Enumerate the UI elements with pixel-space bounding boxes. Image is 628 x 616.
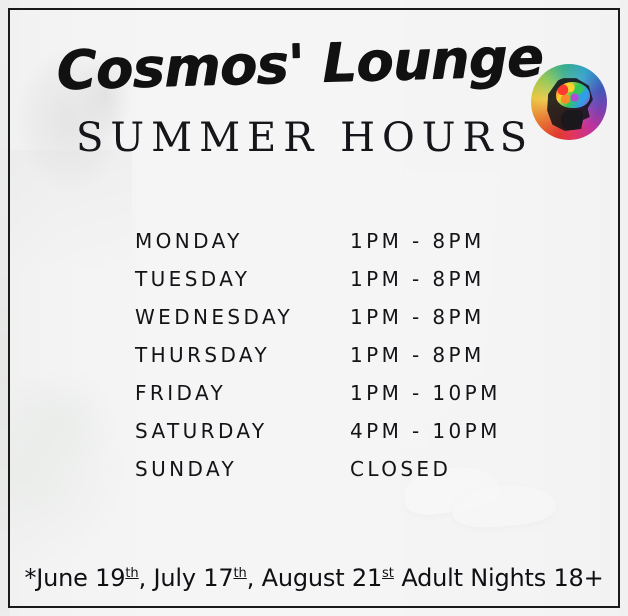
table-row: THURSDAY 1PM - 8PM — [0, 336, 628, 374]
day-label: THURSDAY — [135, 336, 270, 374]
hours-schedule: MONDAY 1PM - 8PM TUESDAY 1PM - 8PM WEDNE… — [0, 222, 628, 488]
footnote-part-3: , August 21 — [247, 564, 382, 592]
table-row: SUNDAY CLOSED — [0, 450, 628, 488]
hours-value: 4PM - 10PM — [350, 412, 501, 450]
table-row: WEDNESDAY 1PM - 8PM — [0, 298, 628, 336]
psychedelic-brain-head-logo-icon — [531, 64, 607, 140]
summer-hours-poster: Cosmos' Lounge SUMMER HOURS MONDAY 1PM -… — [0, 0, 628, 616]
logo-rainbow-brain — [556, 82, 590, 108]
footnote: *June 19th, July 17th, August 21st Adult… — [0, 558, 628, 594]
table-row: SATURDAY 4PM - 10PM — [0, 412, 628, 450]
footnote-part-4: Adult Nights 18+ — [394, 564, 604, 592]
footnote-part-1: *June 19 — [24, 564, 125, 592]
hours-value: 1PM - 8PM — [350, 260, 485, 298]
logo-jaw — [561, 110, 583, 130]
table-row: MONDAY 1PM - 8PM — [0, 222, 628, 260]
hours-value: 1PM - 10PM — [350, 374, 501, 412]
footnote-ordinal-3: st — [382, 566, 394, 581]
poster-content: Cosmos' Lounge SUMMER HOURS MONDAY 1PM -… — [0, 0, 628, 616]
day-label: SUNDAY — [135, 450, 237, 488]
hours-value: 1PM - 8PM — [350, 336, 485, 374]
footnote-part-2: , July 17 — [139, 564, 234, 592]
day-label: WEDNESDAY — [135, 298, 293, 336]
table-row: FRIDAY 1PM - 10PM — [0, 374, 628, 412]
day-label: TUESDAY — [135, 260, 250, 298]
table-row: TUESDAY 1PM - 8PM — [0, 260, 628, 298]
hours-value: CLOSED — [350, 450, 451, 488]
hours-value: 1PM - 8PM — [350, 298, 485, 336]
day-label: SATURDAY — [135, 412, 268, 450]
day-label: FRIDAY — [135, 374, 226, 412]
day-label: MONDAY — [135, 222, 243, 260]
footnote-ordinal-1: th — [125, 566, 138, 581]
footnote-ordinal-2: th — [233, 566, 246, 581]
hours-value: 1PM - 8PM — [350, 222, 485, 260]
